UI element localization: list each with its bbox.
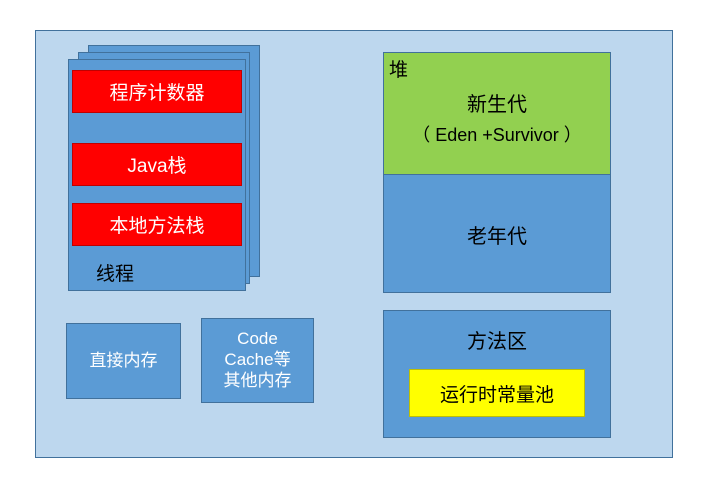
thread-label: 线程 — [96, 259, 134, 286]
young-generation-label: 新生代 — [467, 88, 527, 117]
young-generation-detail-label: （ Eden +Survivor ） — [412, 121, 582, 147]
direct-memory-box: 直接内存 — [66, 323, 181, 399]
other-memory-label-line1: Code — [224, 329, 292, 350]
runtime-constant-pool-label: 运行时常量池 — [440, 380, 554, 407]
other-memory-box: Code Cache等 其他内存 — [201, 318, 314, 403]
old-generation-box: 老年代 — [384, 175, 610, 293]
other-memory-label-line2: Cache等 — [224, 350, 292, 371]
native-method-stack-box: 本地方法栈 — [72, 203, 242, 246]
other-memory-label-line3: 其他内存 — [224, 371, 292, 392]
old-generation-label: 老年代 — [467, 220, 527, 249]
direct-memory-label: 直接内存 — [90, 351, 158, 372]
native-method-stack-label: 本地方法栈 — [109, 211, 204, 238]
runtime-constant-pool-box: 运行时常量池 — [409, 369, 585, 417]
young-generation-box: 新生代 （ Eden +Survivor ） — [384, 53, 610, 175]
heap-label: 堆 — [389, 55, 408, 82]
heap-box: 新生代 （ Eden +Survivor ） 堆 老年代 — [383, 52, 611, 293]
program-counter-register-label: 程序计数器 — [109, 78, 204, 105]
program-counter-register-box: 程序计数器 — [72, 70, 242, 113]
java-stack-label: Java栈 — [127, 151, 186, 178]
java-stack-box: Java栈 — [72, 143, 242, 186]
jvm-memory-diagram: 程序计数器 Java栈 本地方法栈 线程 直接内存 Code Cache等 其他… — [0, 0, 706, 494]
method-area-label: 方法区 — [384, 325, 610, 354]
method-area-box: 方法区 运行时常量池 — [383, 310, 611, 438]
